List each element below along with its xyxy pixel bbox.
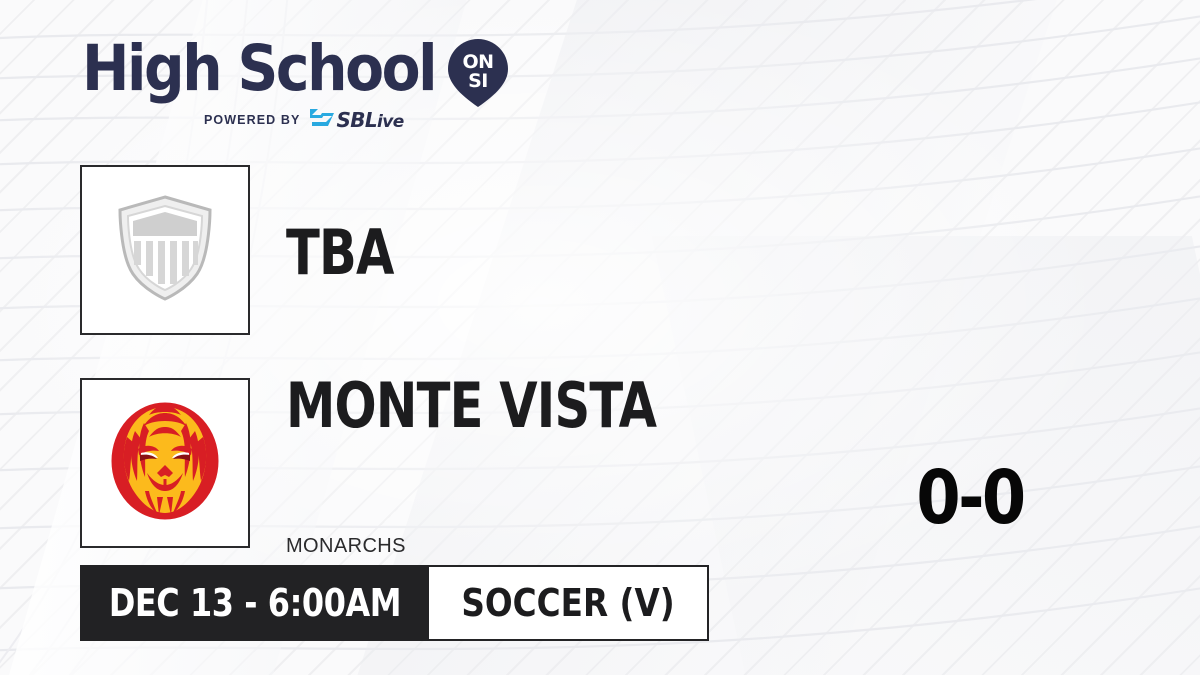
shield-placeholder-icon bbox=[113, 193, 217, 308]
powered-by-label: POWERED BY bbox=[204, 113, 300, 127]
sblive-wordmark: SBLive bbox=[336, 108, 403, 132]
on-si-pin-icon: ON SI bbox=[447, 38, 509, 100]
home-team-logo-box bbox=[80, 378, 250, 548]
away-team-logo-box bbox=[80, 165, 250, 335]
lion-mascot-icon bbox=[105, 397, 225, 530]
sblive-s-mark-icon bbox=[309, 107, 335, 133]
home-team-mascot: MONARCHS bbox=[286, 535, 406, 558]
game-datetime-label: DEC 13 - 6:00AM bbox=[108, 581, 400, 625]
game-info-bar: DEC 13 - 6:00AM SOCCER (V) bbox=[80, 565, 709, 641]
brand-subtitle-row: POWERED BY SBLive bbox=[204, 107, 509, 133]
brand-title: High School bbox=[82, 39, 435, 99]
brand-header: High School ON SI POWERED BY SBLive bbox=[82, 38, 509, 133]
away-team-name: TBA bbox=[286, 216, 394, 289]
svg-text:SI: SI bbox=[468, 70, 488, 92]
score-display: 0-0 bbox=[910, 455, 1030, 541]
home-team-name: MONTE VISTA bbox=[286, 369, 656, 442]
sblive-logo: SBLive bbox=[309, 107, 403, 133]
brand-title-row: High School ON SI bbox=[82, 38, 509, 100]
game-datetime-chip: DEC 13 - 6:00AM bbox=[80, 565, 429, 641]
game-sport-label: SOCCER (V) bbox=[461, 581, 674, 625]
game-sport-chip: SOCCER (V) bbox=[429, 565, 709, 641]
